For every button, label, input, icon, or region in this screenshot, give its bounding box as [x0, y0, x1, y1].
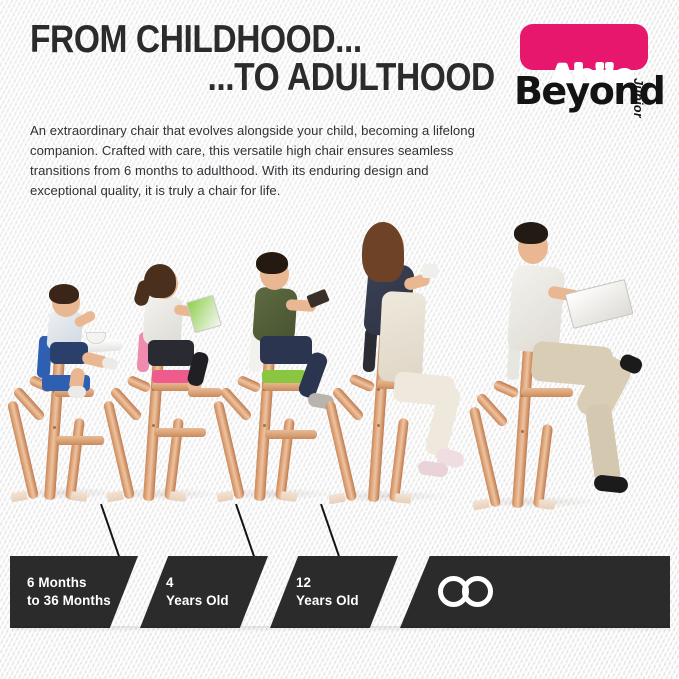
- timeline-bar: 6 Months to 36 Months 4 Years Old 12 Yea…: [10, 556, 670, 628]
- growth-stage-illustration: [0, 200, 679, 520]
- boy-jeans: [260, 336, 312, 364]
- baby-shoe-second: [68, 386, 86, 398]
- timeline-label-toddler: 4 Years Old: [166, 574, 229, 609]
- chair-front-leg-top: [236, 375, 262, 394]
- seat-cushion-green: [262, 370, 306, 383]
- brand-logo: Abiie Beyond Junior: [512, 24, 672, 132]
- headline-line-1: FROM CHILDHOOD...: [30, 22, 434, 58]
- chair-foot-front: [328, 493, 345, 505]
- headline-line-2: ...TO ADULTHOOD: [96, 60, 500, 96]
- intro-paragraph: An extraordinary chair that evolves alon…: [30, 121, 492, 201]
- woman-apron-dress: [378, 291, 427, 383]
- baby-hair: [49, 284, 79, 304]
- chair-foot-front: [106, 491, 123, 503]
- woman-cup: [422, 264, 438, 278]
- timeline-bar-shadow: [12, 626, 670, 632]
- chair-footrest: [56, 436, 104, 445]
- brand-suffix-junior: Junior: [631, 78, 645, 118]
- man-newspaper: [565, 279, 634, 329]
- figure-woman-chair: [322, 218, 492, 504]
- infinity-ring-right: [462, 576, 493, 607]
- infinity-icon: [438, 576, 508, 608]
- man-hair: [514, 222, 548, 244]
- chair-foot-rear: [395, 493, 412, 504]
- chair-foot-rear: [539, 499, 556, 510]
- product-infographic: FROM CHILDHOOD... ...TO ADULTHOOD An ext…: [0, 0, 679, 679]
- chair-foot-front: [10, 491, 27, 503]
- chair-foot-rear: [281, 491, 298, 502]
- chair-seat: [521, 388, 573, 397]
- boy-torso: [252, 287, 298, 344]
- boy-hair: [256, 252, 288, 274]
- chair-foot-rear: [170, 491, 187, 502]
- chair-front-leg-top: [348, 373, 376, 393]
- girl-skirt: [148, 340, 194, 366]
- woman-hair: [362, 222, 404, 282]
- figure-man-chair: [468, 208, 668, 508]
- timeline-label-child: 12 Years Old: [296, 574, 359, 609]
- man-lower-leg: [585, 403, 622, 486]
- chair-footrest: [154, 428, 206, 437]
- chair-footrest: [265, 430, 317, 439]
- chair-front-leg-top: [126, 375, 152, 394]
- chair-foot-front: [216, 491, 233, 503]
- chair-foot-rear: [71, 491, 88, 502]
- man-shoe: [593, 474, 628, 493]
- man-shirt: [506, 264, 565, 354]
- timeline-label-infant: 6 Months to 36 Months: [27, 574, 111, 609]
- chair-foot-front: [472, 499, 489, 511]
- page-title: FROM CHILDHOOD... ...TO ADULTHOOD: [30, 22, 500, 96]
- chair-front-leg-top: [492, 379, 520, 399]
